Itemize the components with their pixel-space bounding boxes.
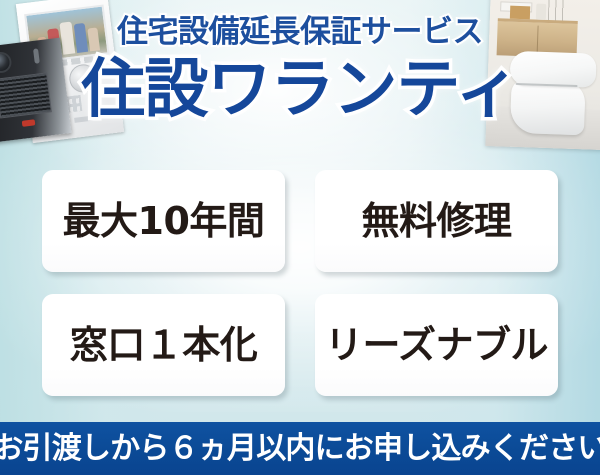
feature-box-max-years[interactable]: 最大10年間: [42, 170, 285, 272]
feature-box-single-contact[interactable]: 窓口１本化: [42, 294, 285, 396]
application-deadline-text: お引渡しから６ヵ月以内にお申し込みください: [0, 434, 600, 464]
promo-banner: 住宅設備延長保証サービス 住設ワランティ 最大10年間 無料修理 窓口１本化 リ…: [0, 0, 600, 475]
application-deadline-bar: お引渡しから６ヵ月以内にお申し込みください: [0, 422, 600, 475]
feature-label: 無料修理: [361, 202, 511, 240]
feature-box-free-repair[interactable]: 無料修理: [315, 170, 558, 272]
feature-label: リーズナブル: [325, 326, 548, 364]
page-title: 住設ワランティ: [0, 58, 600, 122]
feature-box-grid: 最大10年間 無料修理 窓口１本化 リーズナブル: [42, 170, 558, 396]
feature-label: 窓口１本化: [70, 326, 258, 364]
feature-box-reasonable[interactable]: リーズナブル: [315, 294, 558, 396]
service-subtitle: 住宅設備延長保証サービス: [0, 17, 600, 48]
feature-label: 最大10年間: [63, 202, 265, 240]
